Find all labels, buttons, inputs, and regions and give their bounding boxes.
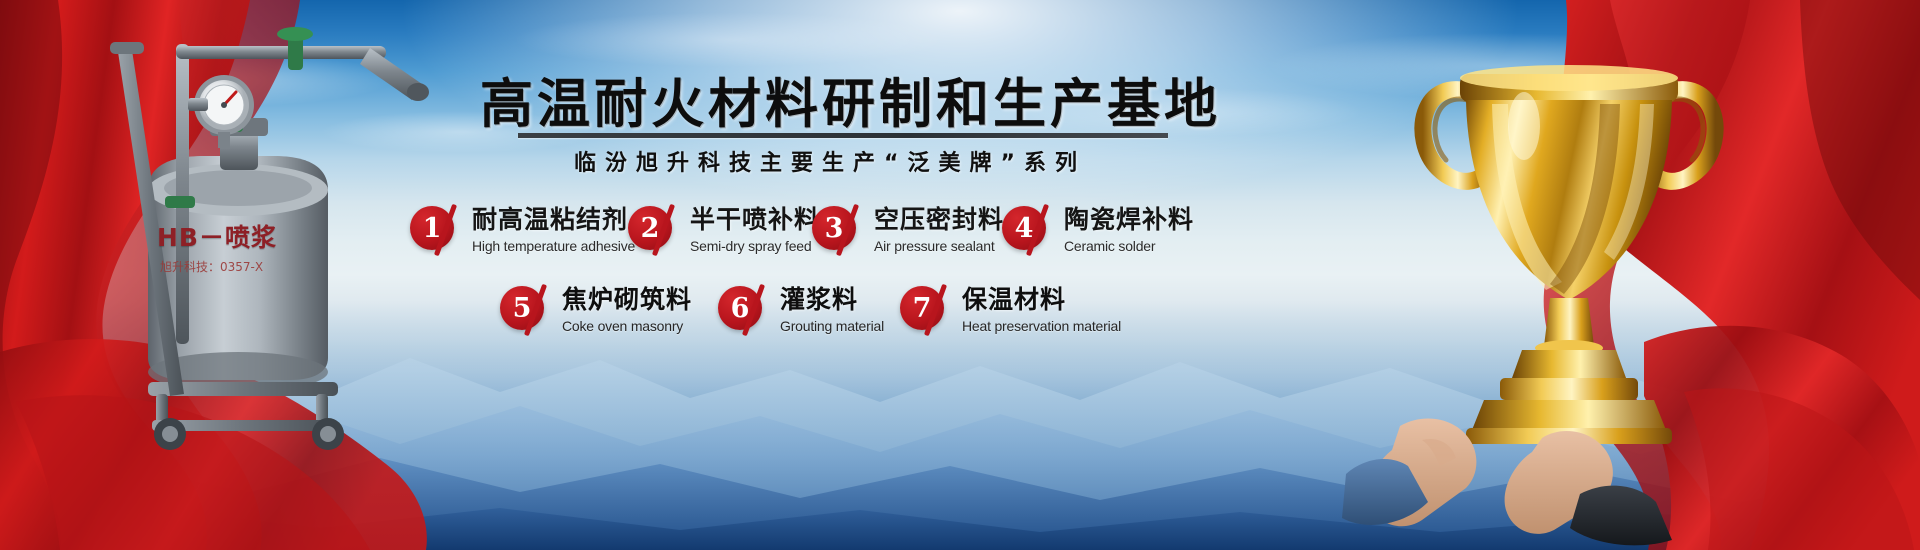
- product-name-en: Coke oven masonry: [562, 318, 692, 334]
- product-name-en: Grouting material: [780, 318, 884, 334]
- badge-wrap-7: 7: [900, 286, 952, 344]
- product-texts-2: 半干喷补料 Semi-dry spray feed: [680, 206, 820, 254]
- product-list: 1 耐高温粘结剂 High temperature adhesive 2 半干喷…: [400, 0, 1220, 550]
- product-name-cn: 耐高温粘结剂: [472, 207, 635, 233]
- machine-label: HB－喷浆: [157, 218, 327, 254]
- product-item-2[interactable]: 2 半干喷补料 Semi-dry spray feed: [628, 206, 820, 264]
- badge-wrap-2: 2: [628, 206, 680, 264]
- product-name-en: Air pressure sealant: [874, 238, 1004, 254]
- hands-holding-trophy: [1330, 410, 1690, 550]
- product-item-6[interactable]: 6 灌浆料 Grouting material: [718, 286, 884, 344]
- badge-wrap-5: 5: [500, 286, 552, 344]
- product-texts-1: 耐高温粘结剂 High temperature adhesive: [462, 206, 635, 254]
- product-name-cn: 保温材料: [962, 287, 1121, 313]
- product-texts-5: 焦炉砌筑料 Coke oven masonry: [552, 286, 692, 334]
- product-item-5[interactable]: 5 焦炉砌筑料 Coke oven masonry: [500, 286, 692, 344]
- product-texts-7: 保温材料 Heat preservation material: [952, 286, 1121, 334]
- machine-sub-label: 旭升科技：0357-X: [160, 258, 340, 275]
- product-item-7[interactable]: 7 保温材料 Heat preservation material: [900, 286, 1121, 344]
- promo-banner: HB－喷浆 旭升科技：0357-X: [0, 0, 1920, 550]
- product-name-en: Heat preservation material: [962, 318, 1121, 334]
- badge-wrap-6: 6: [718, 286, 770, 344]
- product-texts-4: 陶瓷焊补料 Ceramic solder: [1054, 206, 1194, 254]
- product-name-cn: 空压密封料: [874, 207, 1004, 233]
- product-texts-3: 空压密封料 Air pressure sealant: [864, 206, 1004, 254]
- product-item-3[interactable]: 3 空压密封料 Air pressure sealant: [812, 206, 1004, 264]
- banner-text-content: 高温耐火材料研制和生产基地 临汾旭升科技主要生产“泛美牌”系列 1 耐高温粘结剂…: [400, 0, 1220, 550]
- product-texts-6: 灌浆料 Grouting material: [770, 286, 884, 334]
- product-item-4[interactable]: 4 陶瓷焊补料 Ceramic solder: [1002, 206, 1194, 264]
- product-name-en: High temperature adhesive: [472, 238, 635, 254]
- product-name-cn: 陶瓷焊补料: [1064, 207, 1194, 233]
- badge-wrap-4: 4: [1002, 206, 1054, 264]
- badge-wrap-1: 1: [410, 206, 462, 264]
- product-item-1[interactable]: 1 耐高温粘结剂 High temperature adhesive: [410, 206, 635, 264]
- product-name-en: Semi-dry spray feed: [690, 238, 820, 254]
- badge-wrap-3: 3: [812, 206, 864, 264]
- product-name-cn: 灌浆料: [780, 287, 884, 313]
- product-name-cn: 焦炉砌筑料: [562, 287, 692, 313]
- product-name-en: Ceramic solder: [1064, 238, 1194, 254]
- gold-trophy: [1404, 16, 1734, 446]
- product-name-cn: 半干喷补料: [690, 207, 820, 233]
